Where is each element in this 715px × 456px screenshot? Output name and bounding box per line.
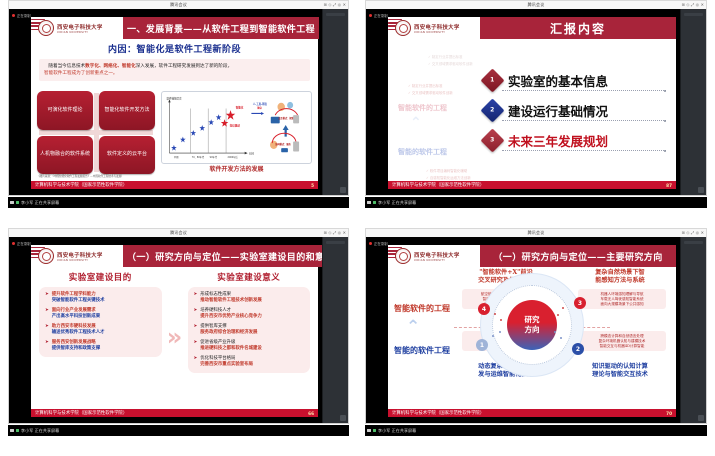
mic-icon xyxy=(373,201,376,205)
ghost-bullet-text: 自感知智能化运维方法创新 xyxy=(430,176,471,180)
restore-icon[interactable]: ⤢ xyxy=(333,230,336,235)
center-line-1: 研究 xyxy=(525,315,540,325)
four-pillar-diagram: 可演化软件理论 智能化软件开发方法 人机物融合的软件系统 软件定义的云平台 xyxy=(37,91,155,174)
slide-title-band-1: 一、发展背景——从软件工程到智能软件工程 xyxy=(123,17,319,39)
close-icon[interactable]: ✕ xyxy=(701,230,704,235)
university-seal-icon xyxy=(38,248,54,264)
camera-icon xyxy=(10,201,14,205)
pillar-box: 软件定义的云平台 xyxy=(99,136,155,175)
significance-heading: 实验室建设意义 xyxy=(217,271,280,283)
slide-2: 西安电子科技大学 XIDIAN UNIVERSITY 汇报内容 智能 xyxy=(388,17,676,189)
camera-icon xyxy=(10,429,14,433)
agenda-badge: 3 xyxy=(480,128,504,152)
svg-text:融合: 融合 xyxy=(257,105,262,109)
window-title-3: 腾讯会议 xyxy=(170,230,187,236)
svg-text:2000年后: 2000年后 xyxy=(228,155,239,159)
university-seal-icon xyxy=(395,248,411,264)
rail-button-icon[interactable] xyxy=(340,415,346,421)
ghost-text: 智能的软件工程 xyxy=(398,147,447,156)
slide-header-4: 西安电子科技大学 XIDIAN UNIVERSITY （一）研究方向与定位——主… xyxy=(388,245,676,267)
evolution-chart-card: 软件抽象层次 时间 早期 xyxy=(161,91,312,164)
window-controls-3[interactable]: ⊞ ◇ ⤢ ◎ ✕ xyxy=(324,230,347,235)
presenter-name-1: 李小军 正在共享屏幕 xyxy=(21,200,59,206)
screenshot-grid: 腾讯会议 ⊞ ◇ ⤢ ◎ ✕ 正在录制 xyxy=(0,0,715,456)
slide-title-band-4: （一）研究方向与定位——主要研究方向 xyxy=(480,245,676,267)
bullet-line-2: 提升西安市优势产业核心竞争力 xyxy=(200,314,261,319)
bullet-line-1: 形成标志性成果 xyxy=(200,292,231,297)
shared-screen-viewport-3: 正在录制 西安电子科技大学 XIDIAN UNIVERSITY xyxy=(8,237,349,424)
bullet-line-1: 助力西安市硬科技发展 xyxy=(52,324,96,329)
rail-strip xyxy=(684,13,703,16)
recording-label-3: 正在录制 xyxy=(17,241,31,246)
mic-icon xyxy=(16,429,19,433)
double-chevron-icon: » xyxy=(162,325,188,349)
slide-footer-3: 计算机科学与技术学院（国家示范性软件学院） 66 xyxy=(31,409,318,417)
footer-text-3: 计算机科学与技术学院（国家示范性软件学院） xyxy=(35,410,127,416)
svg-text:70、80年代: 70、80年代 xyxy=(192,155,205,159)
purpose-column: 实验室建设目的 ➤ 提升软件工程学科能力突破智能软件工程关键技术 ➤ 面向行业产… xyxy=(39,271,162,357)
ghost-bullet-text: 交叉领域需求驱动软件创新 xyxy=(432,62,473,66)
minimize-icon[interactable]: ⊞ xyxy=(682,2,685,7)
presenter-bar-1: 李小军 正在共享屏幕 xyxy=(8,197,349,208)
pillar-box: 人机物融合的软件系统 xyxy=(37,136,93,175)
agenda-number: 1 xyxy=(490,77,494,84)
node-2[interactable]: 2 xyxy=(572,343,584,355)
agenda-label: 实验室的基本信息 xyxy=(508,71,608,90)
slide-title-3: （一）研究方向与定位——实验室建设目的和意义 xyxy=(127,250,322,263)
rail-button-icon[interactable] xyxy=(698,415,704,421)
svg-text:90年代: 90年代 xyxy=(210,155,218,159)
slide-page-number-4: 70 xyxy=(666,411,672,416)
slide-4: 西安电子科技大学 XIDIAN UNIVERSITY （一）研究方向与定位——主… xyxy=(388,245,676,417)
brand-logo-4: 西安电子科技大学 XIDIAN UNIVERSITY xyxy=(388,245,480,267)
window-controls-4[interactable]: ⊞ ◇ ⤢ ◎ ✕ xyxy=(682,230,705,235)
slide-body-3: 实验室建设目的 ➤ 提升软件工程学科能力突破智能软件工程关键技术 ➤ 面向行业产… xyxy=(31,267,318,406)
bullet-line-2: 提供智库支持和政策支撑 xyxy=(52,346,100,351)
bullet-line-1: 面向行业产业发展需求 xyxy=(52,308,96,313)
recording-label-1: 正在录制 xyxy=(17,13,31,18)
left-label-0: 智能软件的工程 xyxy=(394,303,450,314)
node-number: 1 xyxy=(480,342,484,349)
settings-icon[interactable]: ◎ xyxy=(338,2,342,7)
note-plain-1: 随着当今信息技术 xyxy=(48,64,85,69)
settings-icon[interactable]: ◎ xyxy=(696,230,700,235)
record-dot-icon xyxy=(369,242,372,245)
svg-text:时间: 时间 xyxy=(249,151,254,155)
agenda-label: 建设运行基础情况 xyxy=(508,101,608,120)
ghost-label-1: 智能的软件工程 xyxy=(398,139,447,158)
software-evolution-chart: 软件抽象层次 时间 早期 xyxy=(162,92,311,163)
ghost-text: 智能软件的工程 xyxy=(398,103,447,112)
university-name-cn: 西安电子科技大学 xyxy=(57,251,103,259)
presenter-name-4: 李小军 正在共享屏幕 xyxy=(378,428,416,434)
slide-header-3: 西安电子科技大学 XIDIAN UNIVERSITY （一）研究方向与定位——实… xyxy=(31,245,318,267)
slide-header-1: 西安电子科技大学 XIDIAN UNIVERSITY 一、发展背景——从软件工程… xyxy=(31,17,318,39)
recording-indicator-4: 正在录制 xyxy=(369,241,388,246)
list-item: ➤ 提升软件工程学科能力突破智能软件工程关键技术 xyxy=(45,292,156,304)
agenda-row[interactable]: 3 未来三年发展规划 xyxy=(484,125,666,155)
slide-stage-1: 正在录制 西安电子科技大学 XIDIAN UNIVERSITY xyxy=(9,9,322,195)
list-item: ➤ 服务西安创新发展战略提供智库支持和政策支撑 xyxy=(45,340,156,352)
slide-body-2: 智能软件的工程 智能的软件工程 ⌃ ✓ 制定行业并提出标准 ✓ 交叉领域需求驱动… xyxy=(388,39,676,178)
window-title-1: 腾讯会议 xyxy=(170,2,187,8)
recording-label-2: 正在录制 xyxy=(374,13,388,18)
rail-button-icon[interactable] xyxy=(340,187,346,193)
arrow-icon: ➤ xyxy=(45,308,49,314)
arrow-icon: ➤ xyxy=(45,324,49,330)
slide-title-band-3: （一）研究方向与定位——实验室建设目的和意义 xyxy=(123,245,322,267)
pillar-box: 智能化软件开发方法 xyxy=(99,91,155,130)
quadrant-heading-2: 知识驱动的认知计算 理论与智能交互技术 xyxy=(572,363,668,379)
bullet-line-2: 输送优秀软件工程技术人才 xyxy=(52,330,105,335)
quadrant-body-3: 机器人环境感知理解与导航 车载无人驾驶感知智能系统 面向大规模场景下公共感知 xyxy=(578,289,666,309)
slide-stage-2: 正在录制 西安电子科技大学 XIDIAN UNIVERSITY xyxy=(366,9,680,195)
bullet-line-1: 提供智库支撑 xyxy=(200,324,226,329)
svg-text:知识驱动: 知识驱动 xyxy=(229,124,240,128)
presenter-bar-2: 李小军 正在共享屏幕 xyxy=(365,197,707,208)
bullet-line-1: 服务西安创新发展战略 xyxy=(52,340,96,345)
window-titlebar-4[interactable]: 腾讯会议 ⊞ ◇ ⤢ ◎ ✕ xyxy=(365,228,707,237)
shared-screen-viewport-4: 正在录制 西安电子科技大学 XIDIAN UNIVERSITY xyxy=(365,237,707,424)
meeting-side-rail-4[interactable] xyxy=(680,237,706,423)
slide-columns-1: 可演化软件理论 智能化软件开发方法 人机物融合的软件系统 软件定义的云平台 软件… xyxy=(37,91,312,174)
presenter-name-2: 李小军 正在共享屏幕 xyxy=(378,200,416,206)
presenter-name-3: 李小军 正在共享屏幕 xyxy=(21,428,59,434)
brand-logo-2: 西安电子科技大学 XIDIAN UNIVERSITY xyxy=(388,17,480,39)
slide-page-number-3: 66 xyxy=(308,411,314,416)
bullet-line-1: 培养硬科技人才 xyxy=(200,308,231,313)
agenda-rows: 1 实验室的基本信息 2 建设运行基础情况 xyxy=(484,65,666,155)
slide-body-4: 智能软件的工程 ⌃ 智能的软件工程 "智能软件+X"前沿 交叉研究及领域应用 航… xyxy=(388,267,676,406)
recording-indicator-2: 正在录制 xyxy=(369,13,388,18)
shared-screen-viewport-1: 正在录制 西安电子科技大学 XIDIAN UNIVERSITY xyxy=(8,9,349,196)
note-highlight-1: 数字化、网络化、智能化 xyxy=(85,64,136,69)
meeting-side-rail-1[interactable] xyxy=(322,9,348,195)
restore-icon[interactable]: ⤢ xyxy=(333,2,336,7)
slide-title-band-2: 汇报内容 xyxy=(480,17,676,39)
node-4[interactable]: 4 xyxy=(478,303,490,315)
arrow-icon: ➤ xyxy=(194,308,198,314)
slide-stage-4: 正在录制 西安电子科技大学 XIDIAN UNIVERSITY xyxy=(366,237,680,423)
university-name-en: XIDIAN UNIVERSITY xyxy=(57,31,103,34)
slide-footnote-1: （图片来源：《中国智能化软件工程发展报告》—中国软件工程技术与发展） xyxy=(37,174,312,178)
rail-strip xyxy=(326,13,345,16)
slide-page-number-1: 5 xyxy=(311,183,314,188)
node-1[interactable]: 1 xyxy=(476,339,488,351)
ghost-chevron-icon: ⌃ xyxy=(410,115,422,131)
agenda-row[interactable]: 2 建设运行基础情况 xyxy=(484,95,666,125)
recording-indicator-3: 正在录制 xyxy=(12,241,31,246)
significance-column: 实验室建设意义 ➤ 形成标志性成果推动智能软件工程技术创新发展 ➤ 培养硬科技人… xyxy=(188,271,311,373)
list-item: ➤ 形成标志性成果推动智能软件工程技术创新发展 xyxy=(194,292,305,304)
slide-footer-2: 计算机科学与技术学院（国家示范性软件学院） 87 xyxy=(388,181,676,189)
agenda-underline xyxy=(502,120,666,121)
close-icon[interactable]: ✕ xyxy=(343,2,346,7)
slide-footer-1: 计算机科学与技术学院（国家示范性软件学院） 5 xyxy=(31,181,318,189)
ghost-bullet-3: ✓ 交叉领域需求驱动软件创新 xyxy=(408,79,453,98)
presenter-bar-4: 李小军 正在共享屏幕 xyxy=(365,425,707,436)
bullet-line-1: 促进省级产业升级 xyxy=(200,340,235,345)
brand-logo-3: 西安电子科技大学 XIDIAN UNIVERSITY xyxy=(31,245,123,267)
arrow-icon: ➤ xyxy=(45,292,49,298)
window-titlebar-3[interactable]: 腾讯会议 ⊞ ◇ ⤢ ◎ ✕ xyxy=(8,228,349,237)
purpose-significance-columns: 实验室建设目的 ➤ 提升软件工程学科能力突破智能软件工程关键技术 ➤ 面向行业产… xyxy=(39,271,310,402)
university-name-en: XIDIAN UNIVERSITY xyxy=(414,259,460,262)
presenter-bar-3: 李小军 正在共享屏幕 xyxy=(8,425,349,436)
close-icon[interactable]: ✕ xyxy=(701,2,704,7)
record-dot-icon xyxy=(369,14,372,17)
slide-3: 西安电子科技大学 XIDIAN UNIVERSITY （一）研究方向与定位——实… xyxy=(31,245,318,417)
bullet-line-2: 完善西安市重点实验室布局 xyxy=(200,362,253,367)
arrow-icon: ➤ xyxy=(194,292,198,298)
maximize-icon[interactable]: ◇ xyxy=(328,230,331,235)
svg-text:智能化: 智能化 xyxy=(235,105,244,109)
bullet-line-2: 推进硬科技之都和软件名城建设 xyxy=(200,346,261,351)
slide-note-1: 随着当今信息技术数字化、网络化、智能化深入发展，软件工程研究发展到达了新的阶段，… xyxy=(39,59,310,81)
slide-body-1: 内因：智能化是软件工程新阶段 随着当今信息技术数字化、网络化、智能化深入发展，软… xyxy=(31,39,318,178)
arrow-icon: ➤ xyxy=(194,324,198,330)
arrow-icon: ➤ xyxy=(194,356,198,362)
bullet-line-2: 服务政府综合治理和经济发展 xyxy=(200,330,257,335)
window-titlebar-2[interactable]: 腾讯会议 ⊞ ◇ ⤢ ◎ ✕ xyxy=(365,0,707,9)
slide-header-2: 西安电子科技大学 XIDIAN UNIVERSITY 汇报内容 xyxy=(388,17,676,39)
ghost-bullet-1: ✓ 交叉领域需求驱动软件创新 xyxy=(428,50,473,69)
record-dot-icon xyxy=(12,14,15,17)
camera-icon xyxy=(367,201,371,205)
list-item: ➤ 助力西安市硬科技发展输送优秀软件工程技术人才 xyxy=(45,324,156,336)
bullet-line-2: 推动智能软件工程技术创新发展 xyxy=(200,298,261,303)
svg-text:软件抽象层次: 软件抽象层次 xyxy=(166,96,181,100)
center-line-2: 方向 xyxy=(525,325,540,335)
close-icon[interactable]: ✕ xyxy=(343,230,346,235)
slide-subtitle-1: 内因：智能化是软件工程新阶段 xyxy=(31,42,318,55)
svg-text:交互模式：探索: 交互模式：探索 xyxy=(278,116,294,120)
minimize-icon[interactable]: ⊞ xyxy=(682,230,685,235)
rail-strip xyxy=(326,241,345,244)
slide-1: 西安电子科技大学 XIDIAN UNIVERSITY 一、发展背景——从软件工程… xyxy=(31,17,318,189)
quadrant-heading-3: 复杂自然场景下智 能感知方法与系统 xyxy=(572,269,668,285)
slide-stage-3: 正在录制 西安电子科技大学 XIDIAN UNIVERSITY xyxy=(9,237,322,423)
agenda-diagram: 智能软件的工程 智能的软件工程 ⌃ ✓ 制定行业并提出标准 ✓ 交叉领域需求驱动… xyxy=(388,39,676,178)
recording-label-4: 正在录制 xyxy=(374,241,388,246)
footer-text-4: 计算机科学与技术学院（国家示范性软件学院） xyxy=(392,410,484,416)
maximize-icon[interactable]: ◇ xyxy=(328,2,331,7)
minimize-icon[interactable]: ⊞ xyxy=(324,230,327,235)
agenda-underline xyxy=(502,90,666,91)
university-name-cn: 西安电子科技大学 xyxy=(414,251,460,259)
list-item: ➤ 面向行业产业发展需求产出高水平科技创新成果 xyxy=(45,308,156,320)
meeting-window-2: 腾讯会议 ⊞ ◇ ⤢ ◎ ✕ 正在录制 xyxy=(357,0,715,228)
maximize-icon[interactable]: ◇ xyxy=(686,230,689,235)
svg-text:早期: 早期 xyxy=(174,155,179,159)
meeting-window-1: 腾讯会议 ⊞ ◇ ⤢ ◎ ✕ 正在录制 xyxy=(0,0,357,228)
bullet-line-1: 优化科技平台格局 xyxy=(200,356,235,361)
left-label-1: 智能的软件工程 xyxy=(394,345,450,356)
window-title-4: 腾讯会议 xyxy=(528,230,545,236)
mic-icon xyxy=(373,429,376,433)
purpose-card: ➤ 提升软件工程学科能力突破智能软件工程关键技术 ➤ 面向行业产业发展需求产出高… xyxy=(39,287,162,357)
agenda-underline xyxy=(502,150,666,151)
minimize-icon[interactable]: ⊞ xyxy=(324,2,327,7)
agenda-number: 3 xyxy=(490,137,494,144)
settings-icon[interactable]: ◎ xyxy=(338,230,342,235)
ghost-bullet-text: 交叉领域需求驱动软件创新 xyxy=(412,91,453,95)
university-name-cn: 西安电子科技大学 xyxy=(414,23,460,31)
slide-title-4: （一）研究方向与定位——主要研究方向 xyxy=(493,250,662,263)
research-direction-diagram: 智能软件的工程 ⌃ 智能的软件工程 "智能软件+X"前沿 交叉研究及领域应用 航… xyxy=(388,267,676,406)
university-name-cn: 西安电子科技大学 xyxy=(57,23,103,31)
agenda-badge: 2 xyxy=(480,98,504,122)
window-titlebar-1[interactable]: 腾讯会议 ⊞ ◇ ⤢ ◎ ✕ xyxy=(8,0,349,9)
svg-text:协同模式：服务: 协同模式：服务 xyxy=(275,142,291,146)
university-name-en: XIDIAN UNIVERSITY xyxy=(57,259,103,262)
slide-title-1: 一、发展背景——从软件工程到智能软件工程 xyxy=(127,22,315,35)
university-seal-icon xyxy=(395,20,411,36)
list-item: ➤ 促进省级产业升级推进硬科技之都和软件名城建设 xyxy=(194,340,305,352)
slide-title-2: 汇报内容 xyxy=(550,20,606,37)
university-name-en: XIDIAN UNIVERSITY xyxy=(414,31,460,34)
shared-screen-viewport-2: 正在录制 西安电子科技大学 XIDIAN UNIVERSITY xyxy=(365,9,707,196)
purpose-heading: 实验室建设目的 xyxy=(69,271,132,283)
slide-footer-4: 计算机科学与技术学院（国家示范性软件学院） 70 xyxy=(388,409,676,417)
window-controls-1[interactable]: ⊞ ◇ ⤢ ◎ ✕ xyxy=(324,2,347,7)
pillar-box: 可演化软件理论 xyxy=(37,91,93,130)
brand-logo-1: 西安电子科技大学 XIDIAN UNIVERSITY xyxy=(31,17,123,39)
window-controls-2[interactable]: ⊞ ◇ ⤢ ◎ ✕ xyxy=(682,2,705,7)
arrow-icon: ➤ xyxy=(194,340,198,346)
university-seal-icon xyxy=(38,20,54,36)
meeting-window-3: 腾讯会议 ⊞ ◇ ⤢ ◎ ✕ 正在录制 xyxy=(0,228,357,456)
meeting-side-rail-3[interactable] xyxy=(322,237,348,423)
list-item: ➤ 提供智库支撑服务政府综合治理和经济发展 xyxy=(194,324,305,336)
agenda-number: 2 xyxy=(490,107,494,114)
agenda-label: 未来三年发展规划 xyxy=(508,131,608,150)
slide-page-number-2: 87 xyxy=(666,183,672,188)
footer-text-2: 计算机科学与技术学院（国家示范性软件学院） xyxy=(392,182,484,188)
settings-icon[interactable]: ◎ xyxy=(696,2,700,7)
chevron-up-icon: ⌃ xyxy=(406,319,420,336)
note-highlight-2: 智能软件工程成为了创新重点之一。 xyxy=(44,71,118,76)
bullet-line-2: 突破智能软件工程关键技术 xyxy=(52,298,105,303)
note-plain-2: 深入发展，软件工程研究发展到达了新的阶段， xyxy=(136,64,232,69)
bullet-line-2: 产出高水平科技创新成果 xyxy=(52,314,100,319)
agenda-badge: 1 xyxy=(480,68,504,92)
meeting-side-rail-2[interactable] xyxy=(680,9,706,195)
node-number: 2 xyxy=(576,346,580,353)
list-item: ➤ 优化科技平台格局完善西安市重点实验室布局 xyxy=(194,356,305,368)
chart-area-1: 软件抽象层次 时间 早期 xyxy=(161,91,312,174)
recording-indicator-1: 正在录制 xyxy=(12,13,31,18)
meeting-window-4: 腾讯会议 ⊞ ◇ ⤢ ◎ ✕ 正在录制 xyxy=(357,228,715,456)
node-3[interactable]: 3 xyxy=(574,297,586,309)
center-core: 研究 方向 xyxy=(507,300,557,350)
quadrant-body-2: 跨模态计算和自然语言处理 复杂环境机器认知与建模技术 智能交互与机器4D计算智能 xyxy=(578,331,666,351)
mic-icon xyxy=(16,201,19,205)
restore-icon[interactable]: ⤢ xyxy=(691,2,694,7)
camera-icon xyxy=(367,429,371,433)
footer-text-1: 计算机科学与技术学院（国家示范性软件学院） xyxy=(35,182,127,188)
chart-caption-1: 软件开发方法的发展 xyxy=(161,164,312,173)
rail-strip xyxy=(684,241,703,244)
node-number: 4 xyxy=(482,306,486,313)
record-dot-icon xyxy=(12,242,15,245)
maximize-icon[interactable]: ◇ xyxy=(686,2,689,7)
arrow-icon: ➤ xyxy=(45,340,49,346)
significance-card: ➤ 形成标志性成果推动智能软件工程技术创新发展 ➤ 培养硬科技人才提升西安市优势… xyxy=(188,287,311,373)
bullet-line-1: 提升软件工程学科能力 xyxy=(52,292,96,297)
restore-icon[interactable]: ⤢ xyxy=(691,230,694,235)
window-title-2: 腾讯会议 xyxy=(528,2,545,8)
node-number: 3 xyxy=(578,300,582,307)
list-item: ➤ 培养硬科技人才提升西安市优势产业核心竞争力 xyxy=(194,308,305,320)
rail-button-icon[interactable] xyxy=(698,187,704,193)
agenda-row[interactable]: 1 实验室的基本信息 xyxy=(484,65,666,95)
